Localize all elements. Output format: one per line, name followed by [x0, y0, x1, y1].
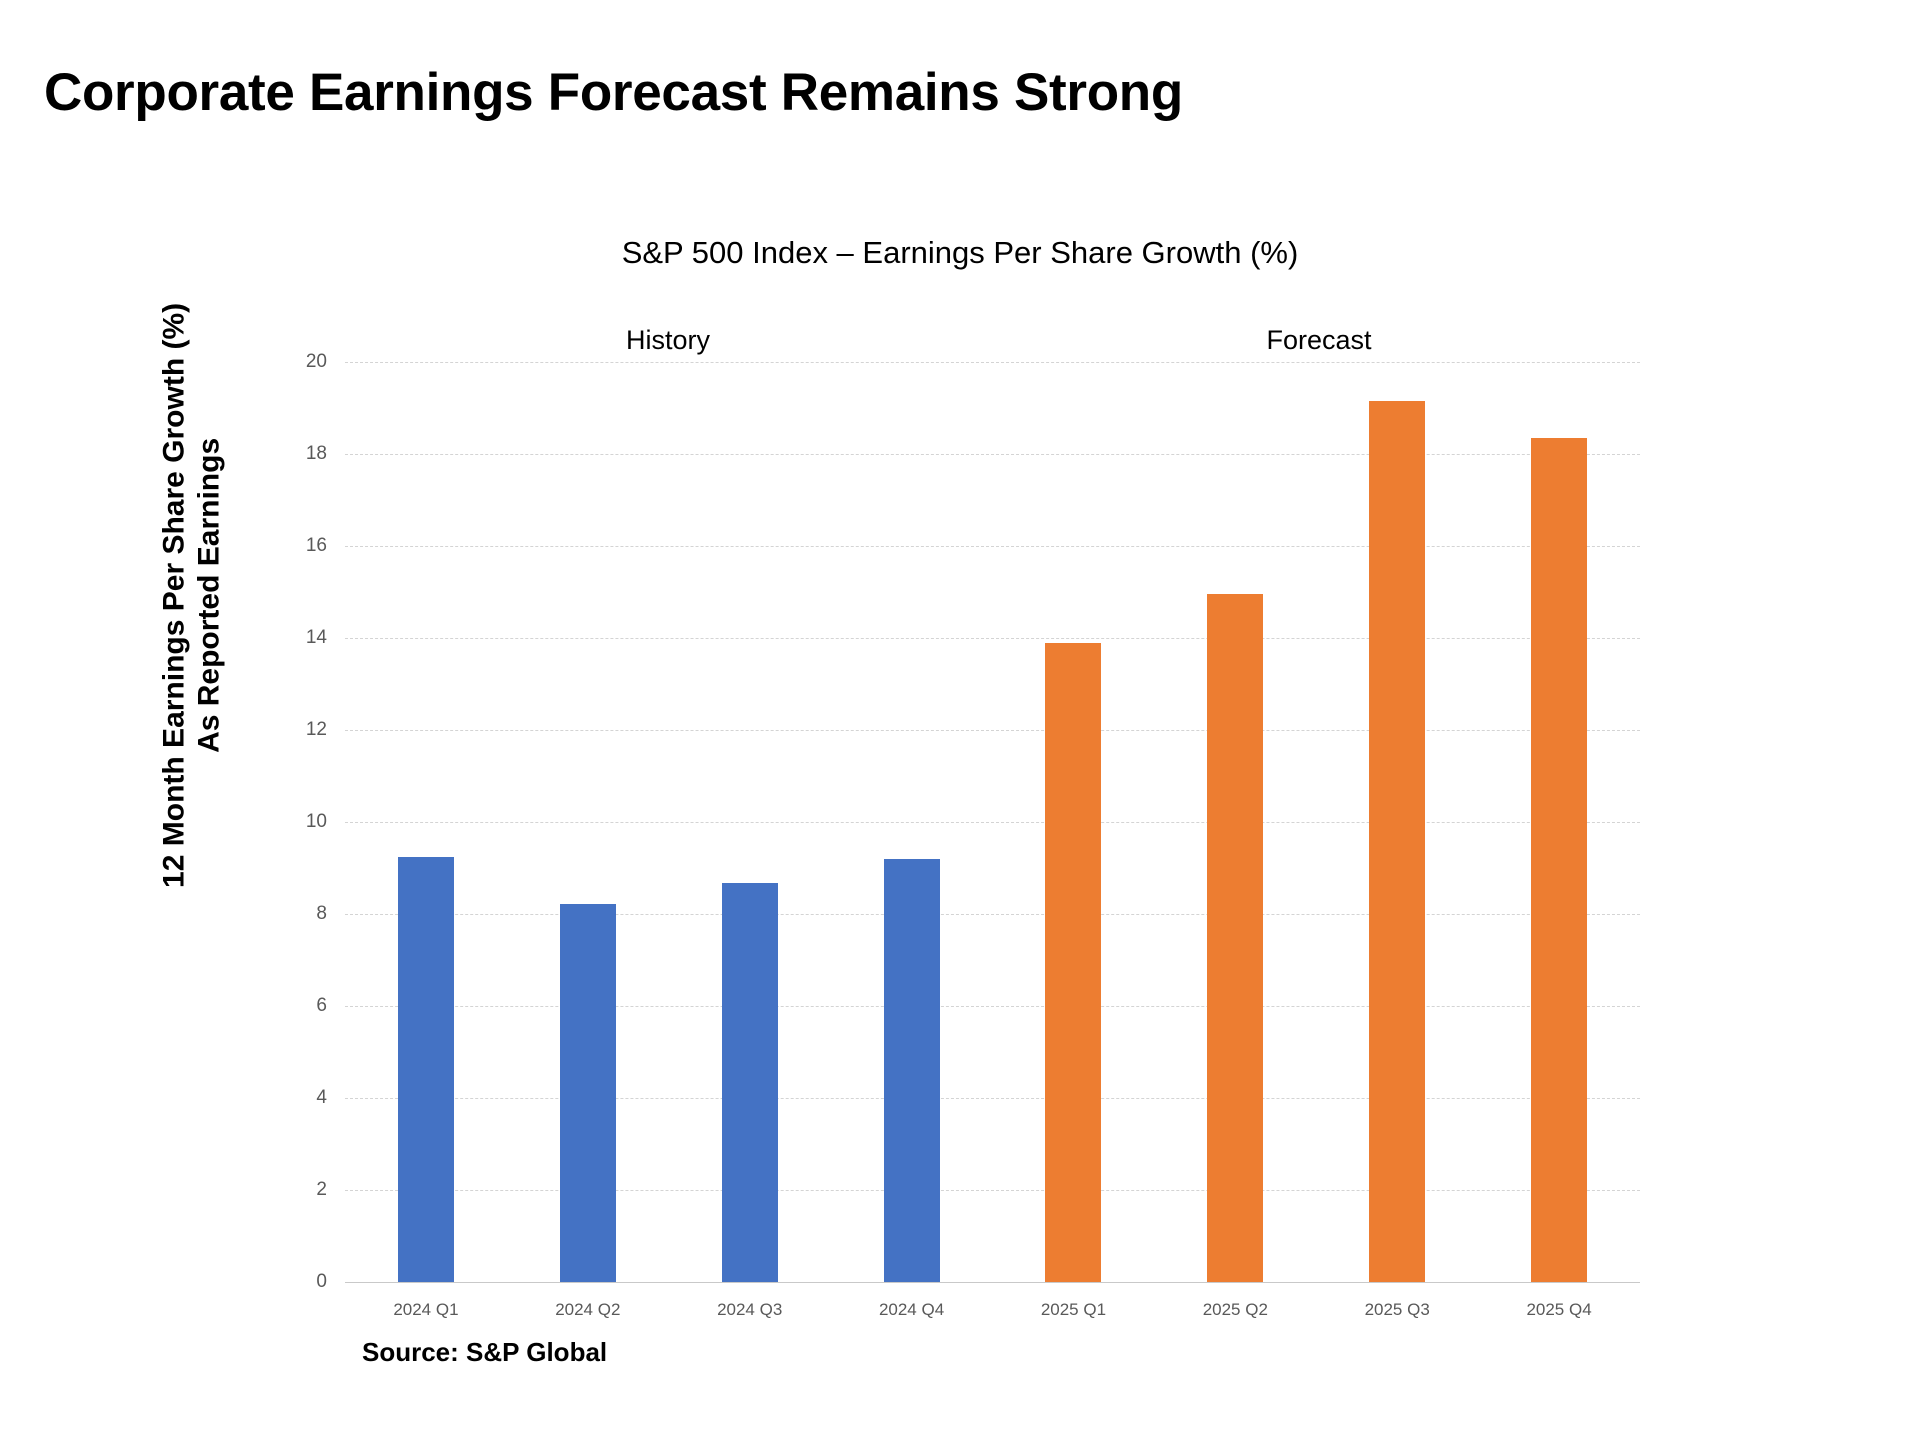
x-axis-tick-label: 2025 Q2 [1203, 1300, 1268, 1320]
y-axis-tick-label: 8 [316, 903, 327, 925]
x-axis-tick-label: 2024 Q3 [717, 1300, 782, 1320]
x-axis-tick-label: 2025 Q1 [1041, 1300, 1106, 1320]
x-axis-tick-label: 2024 Q2 [555, 1300, 620, 1320]
bar-slot: 2024 Q1 [345, 362, 507, 1282]
chart-title: S&P 500 Index – Earnings Per Share Growt… [340, 235, 1580, 271]
y-axis-title-line-1: 12 Month Earnings Per Share Growth (%) [157, 215, 192, 975]
bar[interactable] [1045, 643, 1101, 1282]
x-axis-tick-label: 2024 Q4 [879, 1300, 944, 1320]
bar[interactable] [1369, 401, 1425, 1282]
source-note: Source: S&P Global [362, 1337, 607, 1368]
bar-slot: 2025 Q2 [1154, 362, 1316, 1282]
bar-slot: 2025 Q4 [1478, 362, 1640, 1282]
x-axis-tick-label: 2024 Q1 [393, 1300, 458, 1320]
y-axis-tick-label: 14 [306, 627, 327, 649]
y-axis-tick-label: 4 [316, 1087, 327, 1109]
bar[interactable] [1207, 594, 1263, 1282]
bar[interactable] [560, 904, 616, 1282]
y-axis-tick-label: 2 [316, 1179, 327, 1201]
bar-slot: 2025 Q1 [993, 362, 1155, 1282]
bar-slot: 2024 Q2 [507, 362, 669, 1282]
y-axis-tick-label: 18 [306, 443, 327, 465]
bar[interactable] [884, 859, 940, 1282]
plot-area: 02468101214161820 2024 Q12024 Q22024 Q32… [345, 362, 1640, 1282]
chart-container: S&P 500 Index – Earnings Per Share Growt… [0, 0, 1920, 1440]
y-axis-tick-label: 12 [306, 719, 327, 741]
bar[interactable] [722, 883, 778, 1282]
bar-group: 2024 Q12024 Q22024 Q32024 Q42025 Q12025 … [345, 362, 1640, 1282]
bar-slot: 2024 Q4 [831, 362, 993, 1282]
x-axis-tick-label: 2025 Q3 [1365, 1300, 1430, 1320]
y-axis-tick-label: 10 [306, 811, 327, 833]
y-axis-tick-label: 20 [306, 351, 327, 373]
bar[interactable] [398, 857, 454, 1283]
y-axis-tick-label: 6 [316, 995, 327, 1017]
y-axis-tick-label: 0 [316, 1271, 327, 1293]
annotation-forecast: Forecast [1266, 325, 1371, 356]
y-axis-title: 12 Month Earnings Per Share Growth (%) A… [157, 215, 228, 975]
bar-slot: 2025 Q3 [1316, 362, 1478, 1282]
y-axis-title-line-2: As Reported Earnings [192, 215, 227, 975]
x-axis-tick-label: 2025 Q4 [1526, 1300, 1591, 1320]
bar-slot: 2024 Q3 [669, 362, 831, 1282]
annotation-history: History [626, 325, 710, 356]
gridline [345, 1282, 1640, 1283]
y-axis-tick-label: 16 [306, 535, 327, 557]
bar[interactable] [1531, 438, 1587, 1282]
